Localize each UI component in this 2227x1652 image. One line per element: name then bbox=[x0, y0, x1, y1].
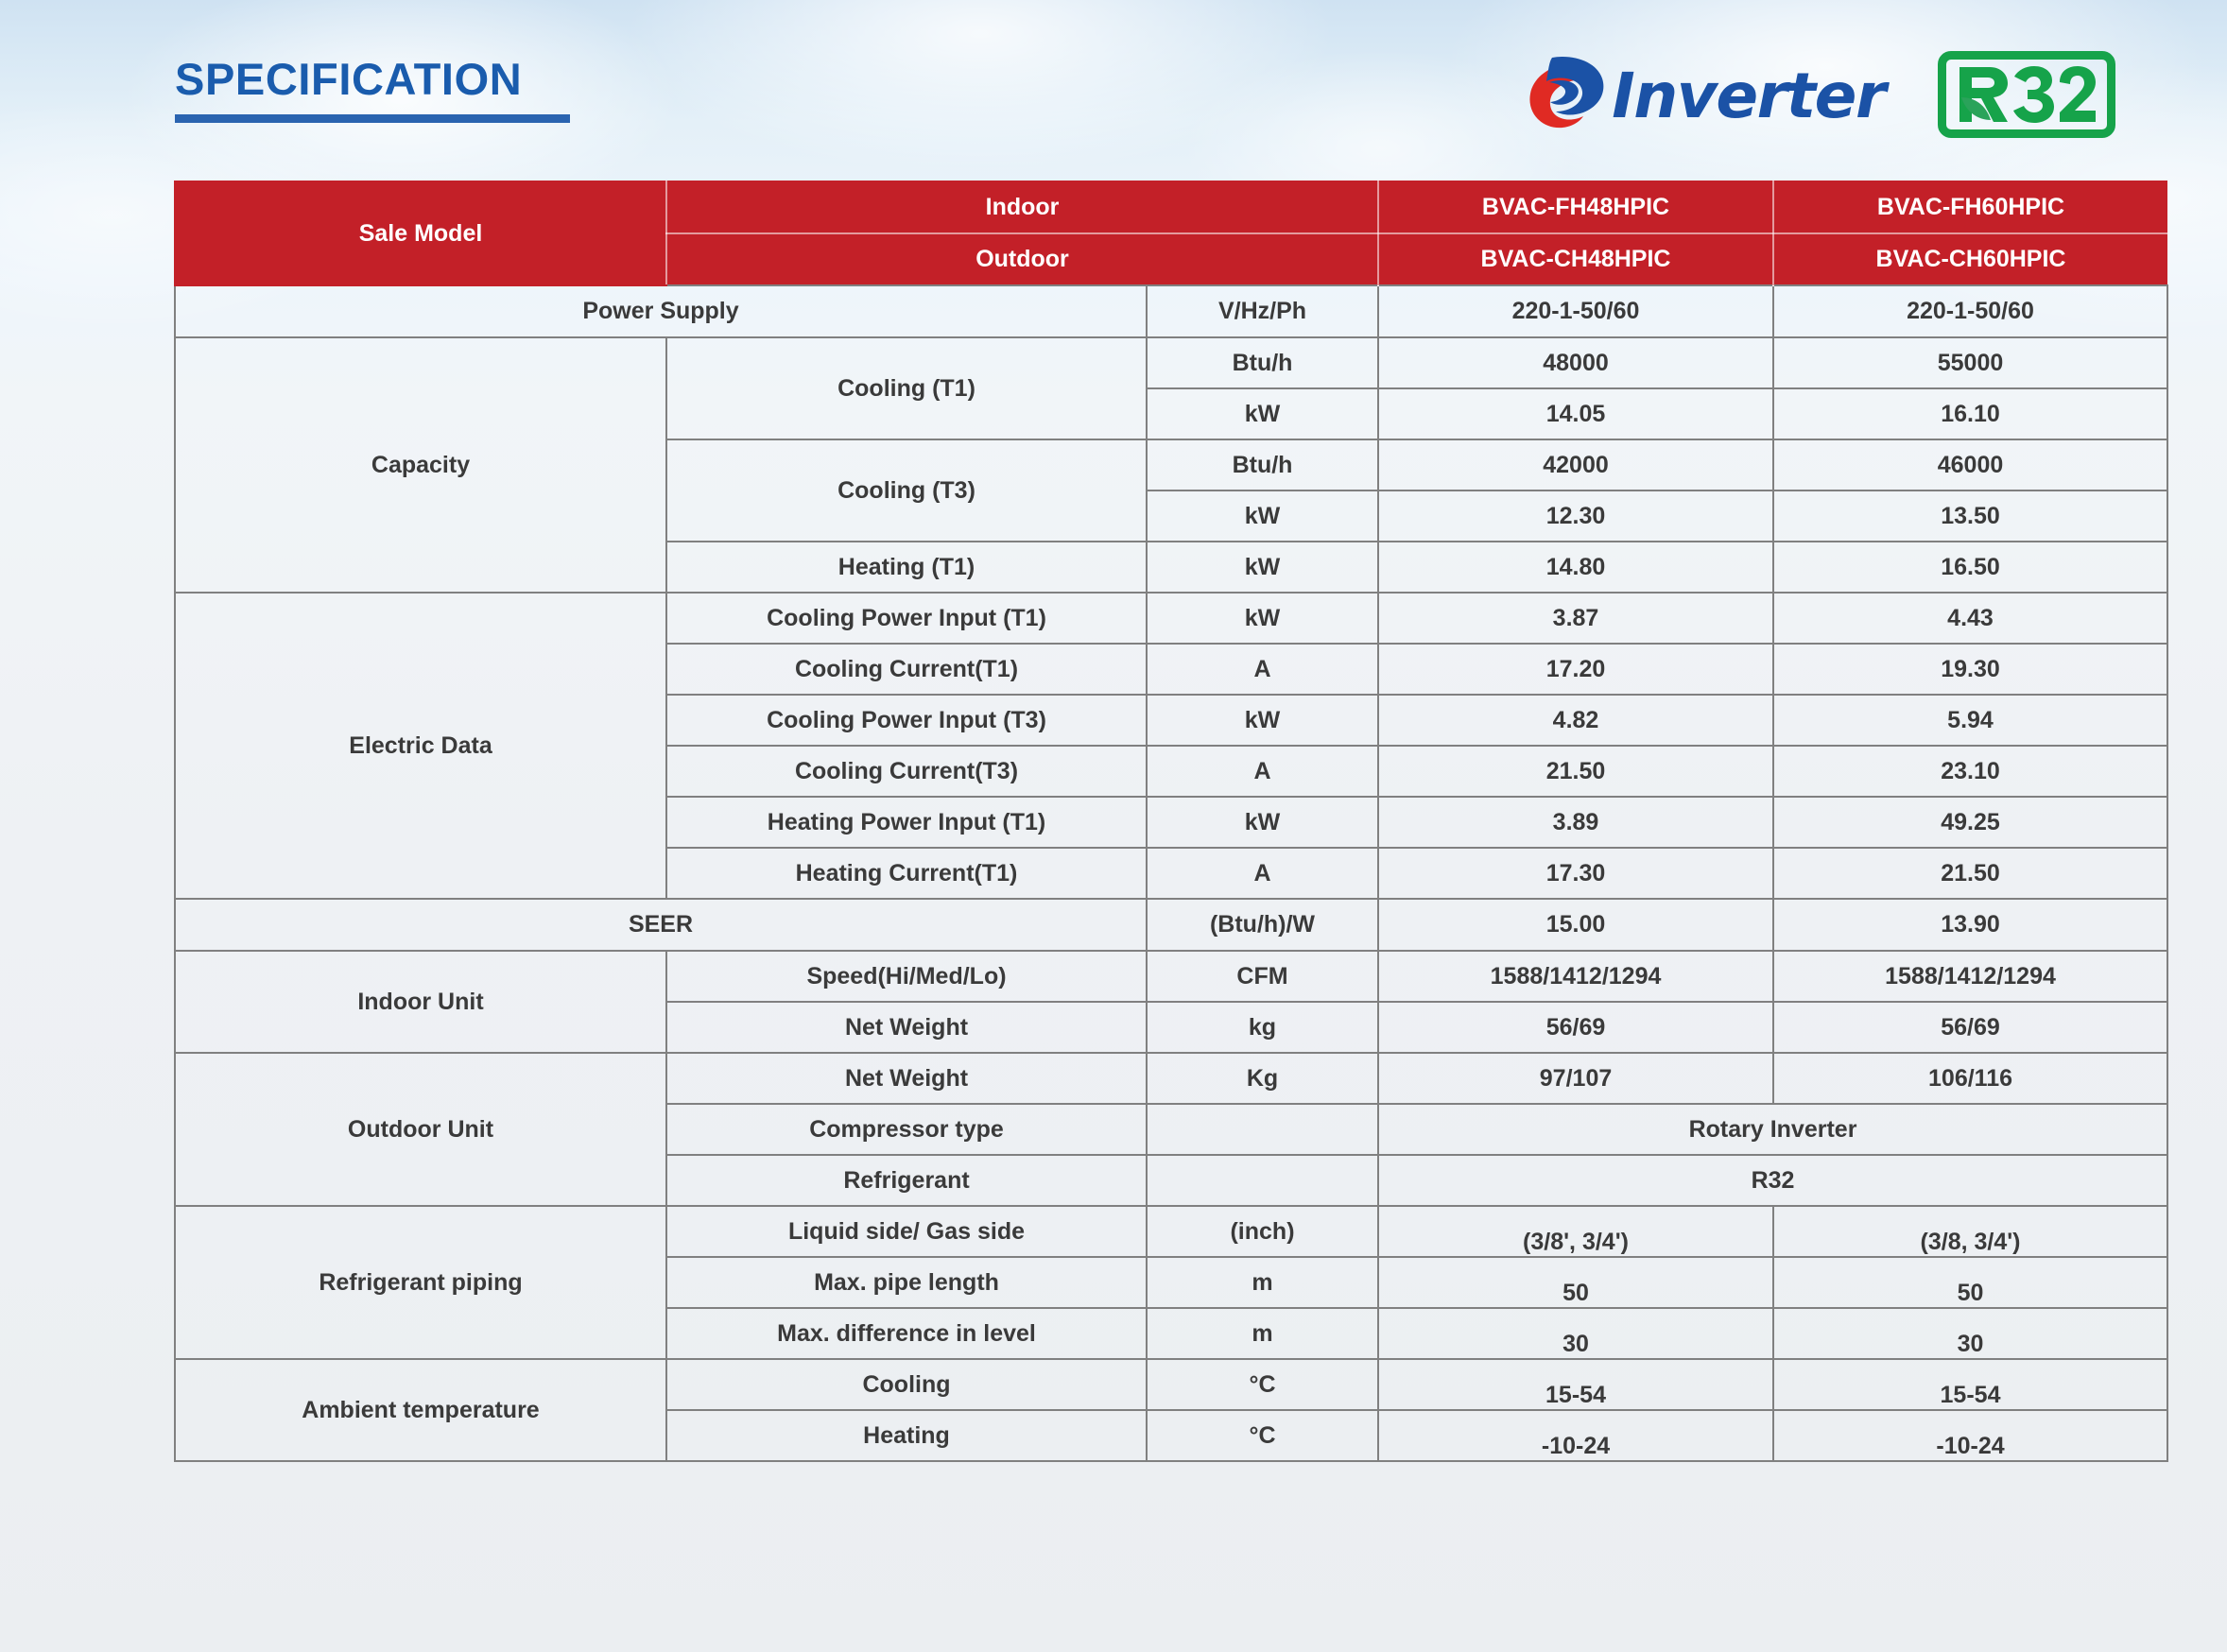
item-electric-4: Heating Power Input (T1) bbox=[666, 797, 1147, 848]
model-indoor-1: BVAC-FH48HPIC bbox=[1378, 181, 1773, 233]
unit-ambient-cooling: °C bbox=[1147, 1359, 1378, 1410]
outdoor-header: Outdoor bbox=[666, 233, 1378, 285]
value-electric-2-1: 4.82 bbox=[1378, 695, 1773, 746]
item-piping-0: Liquid side/ Gas side bbox=[666, 1206, 1147, 1257]
power-supply-unit: V/Hz/Ph bbox=[1147, 285, 1378, 337]
unit-piping-1: m bbox=[1147, 1257, 1378, 1308]
r32-leaf-icon bbox=[1956, 63, 2098, 126]
value-ambient-cooling-1: 15-54 bbox=[1378, 1359, 1773, 1410]
value-electric-1-2: 19.30 bbox=[1773, 644, 2167, 695]
power-supply-value-2: 220-1-50/60 bbox=[1773, 285, 2167, 337]
item-electric-2: Cooling Power Input (T3) bbox=[666, 695, 1147, 746]
specification-table: Sale Model Indoor BVAC-FH48HPIC BVAC-FH6… bbox=[174, 181, 2168, 1462]
value-cooling-t1-kw-2: 16.10 bbox=[1773, 388, 2167, 439]
value-compressor-type: Rotary Inverter bbox=[1378, 1104, 2167, 1155]
value-electric-4-1: 3.89 bbox=[1378, 797, 1773, 848]
value-electric-3-2: 23.10 bbox=[1773, 746, 2167, 797]
value-electric-0-1: 3.87 bbox=[1378, 593, 1773, 644]
unit-cooling-t3-kw: kW bbox=[1147, 490, 1378, 542]
value-indoor-net-weight-2: 56/69 bbox=[1773, 1002, 2167, 1053]
unit-piping-0: (inch) bbox=[1147, 1206, 1378, 1257]
item-ambient-cooling: Cooling bbox=[666, 1359, 1147, 1410]
unit-electric-0: kW bbox=[1147, 593, 1378, 644]
seer-unit: (Btu/h)/W bbox=[1147, 899, 1378, 951]
value-piping-0-1: (3/8', 3/4') bbox=[1378, 1206, 1773, 1257]
table-header-row-indoor: Sale Model Indoor BVAC-FH48HPIC BVAC-FH6… bbox=[175, 181, 2167, 233]
value-cooling-t3-btu-1: 42000 bbox=[1378, 439, 1773, 490]
inverter-logo: Inverter bbox=[1521, 54, 1885, 135]
power-supply-label: Power Supply bbox=[175, 285, 1147, 337]
value-electric-5-2: 21.50 bbox=[1773, 848, 2167, 899]
power-supply-value-1: 220-1-50/60 bbox=[1378, 285, 1773, 337]
group-indoor-unit: Indoor Unit bbox=[175, 951, 666, 1053]
item-electric-0: Cooling Power Input (T1) bbox=[666, 593, 1147, 644]
sale-model-header: Sale Model bbox=[175, 181, 666, 285]
value-ambient-heating-1: -10-24 bbox=[1378, 1410, 1773, 1461]
row-seer: SEER (Btu/h)/W 15.00 13.90 bbox=[175, 899, 2167, 951]
row-indoor-0: Indoor Unit Speed(Hi/Med/Lo) CFM 1588/14… bbox=[175, 951, 2167, 1002]
specification-page: SPECIFICATION Inverter bbox=[0, 0, 2227, 1652]
item-ambient-heating: Heating bbox=[666, 1410, 1147, 1461]
value-electric-5-1: 17.30 bbox=[1378, 848, 1773, 899]
item-indoor-speed: Speed(Hi/Med/Lo) bbox=[666, 951, 1147, 1002]
group-ambient-temperature: Ambient temperature bbox=[175, 1359, 666, 1461]
item-indoor-net-weight: Net Weight bbox=[666, 1002, 1147, 1053]
unit-indoor-speed: CFM bbox=[1147, 951, 1378, 1002]
title-underline bbox=[175, 114, 570, 123]
value-outdoor-net-weight-1: 97/107 bbox=[1378, 1053, 1773, 1104]
value-ambient-heating-2: -10-24 bbox=[1773, 1410, 2167, 1461]
item-electric-1: Cooling Current(T1) bbox=[666, 644, 1147, 695]
brand-logo-block: Inverter bbox=[1521, 45, 2115, 144]
value-cooling-t3-kw-2: 13.50 bbox=[1773, 490, 2167, 542]
value-cooling-t1-btu-2: 55000 bbox=[1773, 337, 2167, 388]
value-cooling-t3-btu-2: 46000 bbox=[1773, 439, 2167, 490]
row-capacity-cooling-t1-btu: Capacity Cooling (T1) Btu/h 48000 55000 bbox=[175, 337, 2167, 388]
unit-electric-3: A bbox=[1147, 746, 1378, 797]
unit-indoor-net-weight: kg bbox=[1147, 1002, 1378, 1053]
item-piping-2: Max. difference in level bbox=[666, 1308, 1147, 1359]
item-electric-5: Heating Current(T1) bbox=[666, 848, 1147, 899]
unit-electric-1: A bbox=[1147, 644, 1378, 695]
value-indoor-speed-1: 1588/1412/1294 bbox=[1378, 951, 1773, 1002]
value-piping-2-1: 30 bbox=[1378, 1308, 1773, 1359]
item-electric-3: Cooling Current(T3) bbox=[666, 746, 1147, 797]
unit-cooling-t1-kw: kW bbox=[1147, 388, 1378, 439]
inverter-swirl-icon bbox=[1521, 54, 1608, 135]
value-piping-2-2: 30 bbox=[1773, 1308, 2167, 1359]
value-indoor-net-weight-1: 56/69 bbox=[1378, 1002, 1773, 1053]
unit-compressor-type bbox=[1147, 1104, 1378, 1155]
model-outdoor-2: BVAC-CH60HPIC bbox=[1773, 233, 2167, 285]
seer-label: SEER bbox=[175, 899, 1147, 951]
value-piping-0-2: (3/8, 3/4') bbox=[1773, 1206, 2167, 1257]
value-electric-1-1: 17.20 bbox=[1378, 644, 1773, 695]
item-cooling-t1: Cooling (T1) bbox=[666, 337, 1147, 439]
group-outdoor-unit: Outdoor Unit bbox=[175, 1053, 666, 1206]
value-indoor-speed-2: 1588/1412/1294 bbox=[1773, 951, 2167, 1002]
unit-outdoor-net-weight: Kg bbox=[1147, 1053, 1378, 1104]
item-compressor-type: Compressor type bbox=[666, 1104, 1147, 1155]
value-refrigerant: R32 bbox=[1378, 1155, 2167, 1206]
indoor-header: Indoor bbox=[666, 181, 1378, 233]
value-electric-2-2: 5.94 bbox=[1773, 695, 2167, 746]
r32-badge bbox=[1938, 51, 2115, 138]
row-ambient-0: Ambient temperature Cooling °C 15-54 15-… bbox=[175, 1359, 2167, 1410]
value-heating-t1-2: 16.50 bbox=[1773, 542, 2167, 593]
seer-value-2: 13.90 bbox=[1773, 899, 2167, 951]
item-cooling-t3: Cooling (T3) bbox=[666, 439, 1147, 542]
model-indoor-2: BVAC-FH60HPIC bbox=[1773, 181, 2167, 233]
unit-piping-2: m bbox=[1147, 1308, 1378, 1359]
inverter-wordmark: Inverter bbox=[1612, 65, 1885, 128]
item-heating-t1: Heating (T1) bbox=[666, 542, 1147, 593]
unit-refrigerant bbox=[1147, 1155, 1378, 1206]
row-outdoor-0: Outdoor Unit Net Weight Kg 97/107 106/11… bbox=[175, 1053, 2167, 1104]
row-piping-0: Refrigerant piping Liquid side/ Gas side… bbox=[175, 1206, 2167, 1257]
group-refrigerant-piping: Refrigerant piping bbox=[175, 1206, 666, 1359]
value-cooling-t1-btu-1: 48000 bbox=[1378, 337, 1773, 388]
value-outdoor-net-weight-2: 106/116 bbox=[1773, 1053, 2167, 1104]
unit-heating-t1: kW bbox=[1147, 542, 1378, 593]
value-electric-0-2: 4.43 bbox=[1773, 593, 2167, 644]
seer-value-1: 15.00 bbox=[1378, 899, 1773, 951]
unit-electric-5: A bbox=[1147, 848, 1378, 899]
row-power-supply: Power Supply V/Hz/Ph 220-1-50/60 220-1-5… bbox=[175, 285, 2167, 337]
value-electric-4-2: 49.25 bbox=[1773, 797, 2167, 848]
page-title-group: SPECIFICATION bbox=[175, 57, 570, 123]
group-capacity: Capacity bbox=[175, 337, 666, 593]
item-outdoor-net-weight: Net Weight bbox=[666, 1053, 1147, 1104]
unit-cooling-t3-btu: Btu/h bbox=[1147, 439, 1378, 490]
unit-ambient-heating: °C bbox=[1147, 1410, 1378, 1461]
page-title: SPECIFICATION bbox=[175, 57, 570, 101]
value-ambient-cooling-2: 15-54 bbox=[1773, 1359, 2167, 1410]
value-cooling-t3-kw-1: 12.30 bbox=[1378, 490, 1773, 542]
unit-cooling-t1-btu: Btu/h bbox=[1147, 337, 1378, 388]
item-refrigerant: Refrigerant bbox=[666, 1155, 1147, 1206]
value-heating-t1-1: 14.80 bbox=[1378, 542, 1773, 593]
page-header: SPECIFICATION Inverter bbox=[0, 45, 2227, 149]
item-piping-1: Max. pipe length bbox=[666, 1257, 1147, 1308]
group-electric-data: Electric Data bbox=[175, 593, 666, 899]
row-electric-0: Electric Data Cooling Power Input (T1) k… bbox=[175, 593, 2167, 644]
value-electric-3-1: 21.50 bbox=[1378, 746, 1773, 797]
model-outdoor-1: BVAC-CH48HPIC bbox=[1378, 233, 1773, 285]
value-piping-1-1: 50 bbox=[1378, 1257, 1773, 1308]
value-piping-1-2: 50 bbox=[1773, 1257, 2167, 1308]
unit-electric-2: kW bbox=[1147, 695, 1378, 746]
unit-electric-4: kW bbox=[1147, 797, 1378, 848]
value-cooling-t1-kw-1: 14.05 bbox=[1378, 388, 1773, 439]
